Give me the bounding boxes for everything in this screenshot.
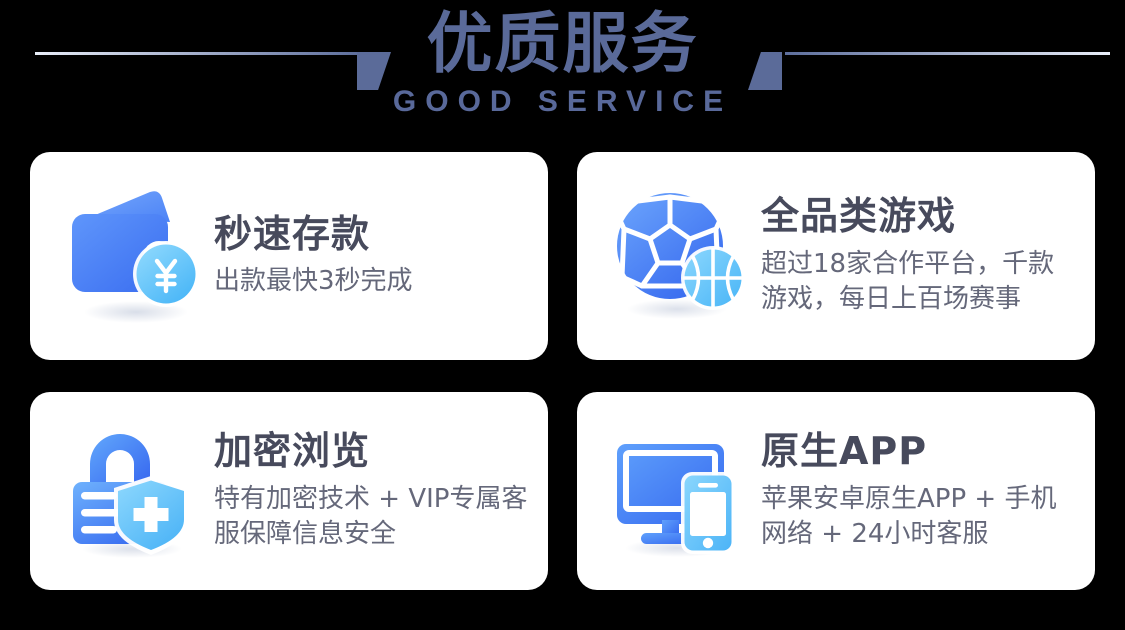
- card-text-deposit: 秒速存款 出款最快3秒完成: [208, 213, 532, 300]
- card-description: 出款最快3秒完成: [214, 264, 532, 299]
- feature-card-deposit[interactable]: 秒速存款 出款最快3秒完成: [30, 152, 548, 360]
- card-title: 加密浏览: [214, 430, 532, 473]
- card-text-native-app: 原生APP 苹果安卓原生APP + 手机网络 + 24小时客服: [755, 430, 1079, 552]
- page-header: 优质服务 GOOD SERVICE: [0, 0, 1125, 142]
- feature-card-grid: 秒速存款 出款最快3秒完成: [30, 152, 1095, 592]
- lock-shield-icon: [58, 416, 208, 566]
- promo-banner: 优质服务 GOOD SERVICE: [0, 0, 1125, 630]
- feature-card-native-app[interactable]: 原生APP 苹果安卓原生APP + 手机网络 + 24小时客服: [577, 392, 1095, 590]
- card-description: 苹果安卓原生APP + 手机网络 + 24小时客服: [761, 482, 1061, 552]
- header-title-wrap: 优质服务 GOOD SERVICE: [0, 0, 1125, 119]
- card-text-games: 全品类游戏 超过18家合作平台，千款游戏，每日上百场赛事: [755, 195, 1079, 317]
- page-subtitle: GOOD SERVICE: [393, 85, 732, 119]
- page-title: 优质服务: [427, 8, 699, 79]
- feature-card-games[interactable]: 全品类游戏 超过18家合作平台，千款游戏，每日上百场赛事: [577, 152, 1095, 360]
- wallet-yen-icon: [58, 181, 208, 331]
- card-title: 全品类游戏: [761, 195, 1079, 238]
- card-description: 超过18家合作平台，千款游戏，每日上百场赛事: [761, 247, 1079, 317]
- feature-card-encryption[interactable]: 加密浏览 特有加密技术 + VIP专属客服保障信息安全: [30, 392, 548, 590]
- card-title: 秒速存款: [214, 213, 532, 256]
- soccer-basketball-icon: [605, 181, 755, 331]
- monitor-phone-icon: [605, 416, 755, 566]
- card-description: 特有加密技术 + VIP专属客服保障信息安全: [214, 482, 532, 552]
- card-text-encryption: 加密浏览 特有加密技术 + VIP专属客服保障信息安全: [208, 430, 532, 552]
- card-title: 原生APP: [761, 430, 1079, 473]
